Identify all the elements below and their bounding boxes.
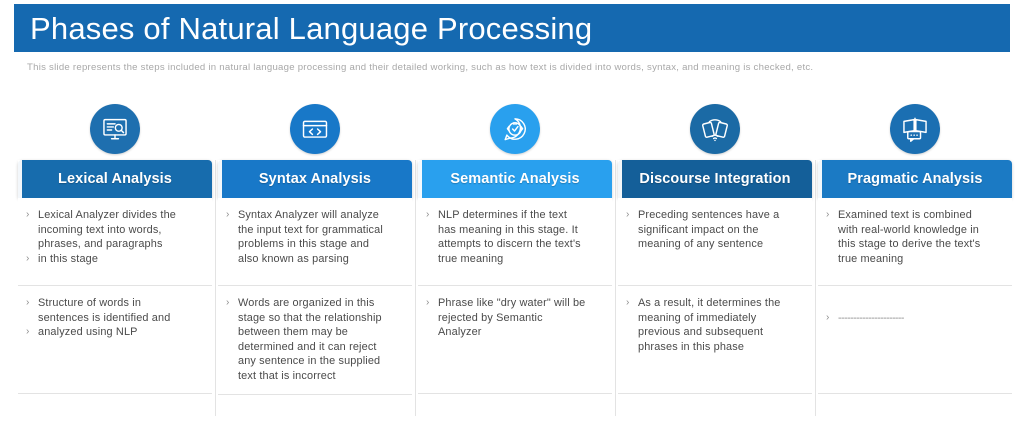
bullet-line: ›any sentence in the supplied [224, 354, 404, 369]
bullet-line: ›---------------------- [824, 311, 1004, 326]
phase-icon-wrap [218, 104, 412, 160]
bullet-line: ›also known as parsing [224, 252, 404, 267]
bullet-text: determined and it can reject [238, 340, 404, 355]
phase-header-label: Syntax Analysis [259, 171, 371, 187]
phase-column-semantic-analysis: Semantic Analysis›NLP determines if the … [418, 104, 612, 394]
chevron-right-icon: › [624, 340, 638, 355]
bullet-text: sentences is identified and [38, 311, 204, 326]
bullet-text: rejected by Semantic [438, 311, 604, 326]
column-separator [815, 160, 816, 416]
bullet-line: ›determined and it can reject [224, 340, 404, 355]
bullet-text: problems in this stage and [238, 237, 404, 252]
phase-header-pragmatic-analysis[interactable]: Pragmatic Analysis [818, 160, 1012, 198]
bullet-text: Examined text is combined [838, 208, 1004, 223]
chevron-right-icon: › [224, 340, 238, 355]
bullet-line: ›As a result, it determines the [624, 296, 804, 311]
phase-header-label: Semantic Analysis [450, 171, 579, 187]
phase-header-semantic-analysis[interactable]: Semantic Analysis [418, 160, 612, 198]
page-title: Phases of Natural Language Processing [14, 13, 592, 44]
chevron-right-icon: › [24, 311, 38, 326]
bullet-text: analyzed using NLP [38, 325, 204, 340]
phase-cell: ›Lexical Analyzer divides the›incoming t… [18, 198, 212, 286]
bullet-text: text that is incorrect [238, 369, 404, 384]
bullet-line: ›Syntax Analyzer will analyze [224, 208, 404, 223]
bullet-line: ›phrases in this phase [624, 340, 804, 355]
bullet-text: this stage to derive the text's [838, 237, 1004, 252]
slide-subtitle: This slide represents the steps included… [27, 62, 987, 73]
bullet-text: previous and subsequent [638, 325, 804, 340]
phase-cell: ›NLP determines if the text›has meaning … [418, 198, 612, 286]
bullet-text: true meaning [438, 252, 604, 267]
bullet-line: ›analyzed using NLP [24, 325, 204, 340]
phase-icon-wrap [18, 104, 212, 160]
bullet-line: ›meaning of any sentence [624, 237, 804, 252]
chevron-right-icon: › [424, 325, 438, 340]
bullet-text: attempts to discern the text's [438, 237, 604, 252]
chevron-right-icon: › [224, 223, 238, 238]
phase-header-lexical-analysis[interactable]: Lexical Analysis [18, 160, 212, 198]
bullet-text: meaning of any sentence [638, 237, 804, 252]
chevron-right-icon: › [824, 252, 838, 267]
phase-header-label: Lexical Analysis [58, 171, 172, 187]
chevron-right-icon: › [824, 296, 838, 311]
chevron-right-icon: › [424, 237, 438, 252]
phase-header-syntax-analysis[interactable]: Syntax Analysis [218, 160, 412, 198]
bullet-text: Analyzer [438, 325, 604, 340]
bullet-line: ›with real-world knowledge in [824, 223, 1004, 238]
bullet-text: significant impact on the [638, 223, 804, 238]
chevron-right-icon: › [24, 223, 38, 238]
chevron-right-icon: › [224, 252, 238, 267]
bullet-text: has meaning in this stage. It [438, 223, 604, 238]
chevron-right-icon: › [24, 208, 38, 223]
phase-column-pragmatic-analysis: Pragmatic Analysis›Examined text is comb… [818, 104, 1012, 394]
bullet-text: incoming text into words, [38, 223, 204, 238]
slide-title-bar: Phases of Natural Language Processing [14, 4, 1010, 52]
header-accent-stripe [818, 160, 822, 198]
chevron-right-icon: › [824, 311, 838, 326]
header-accent-stripe [218, 160, 222, 198]
phase-cell: ›Phrase like "dry water" will be›rejecte… [418, 286, 612, 394]
phase-header-label: Discourse Integration [639, 171, 790, 187]
phase-column-discourse-integration: Discourse Integration›Preceding sentence… [618, 104, 812, 394]
chevron-right-icon: › [624, 325, 638, 340]
chevron-right-icon: › [224, 369, 238, 384]
bullet-text: phrases in this phase [638, 340, 804, 355]
header-accent-stripe [618, 160, 622, 198]
bullet-text: phrases, and paragraphs [38, 237, 204, 252]
bullet-line: ›significant impact on the [624, 223, 804, 238]
bullet-text: stage so that the relationship [238, 311, 404, 326]
header-accent-stripe [18, 160, 22, 198]
chat-bubbles-icon [890, 104, 940, 154]
bullet-line: ›Analyzer [424, 325, 604, 340]
chevron-right-icon: › [424, 296, 438, 311]
bullet-text: also known as parsing [238, 252, 404, 267]
bullet-line: ›problems in this stage and [224, 237, 404, 252]
phase-column-syntax-analysis: Syntax Analysis›Syntax Analyzer will ana… [218, 104, 412, 395]
chevron-right-icon: › [424, 208, 438, 223]
bullet-line: ›the input text for grammatical [224, 223, 404, 238]
code-window-icon [290, 104, 340, 154]
phase-header-discourse-integration[interactable]: Discourse Integration [618, 160, 812, 198]
bullet-text: true meaning [838, 252, 1004, 267]
bullet-line: ›attempts to discern the text's [424, 237, 604, 252]
phase-icon-wrap [818, 104, 1012, 160]
bullet-line: ›text that is incorrect [224, 369, 404, 384]
bullet-line: ›between them may be [224, 325, 404, 340]
column-separator [215, 160, 216, 416]
column-separator [615, 160, 616, 416]
bullet-line: ›Lexical Analyzer divides the [24, 208, 204, 223]
bullet-line: ›previous and subsequent [624, 325, 804, 340]
bullet-text: Structure of words in [38, 296, 204, 311]
devices-signal-icon [690, 104, 740, 154]
bullet-line: ›Structure of words in [24, 296, 204, 311]
phase-cell: ›As a result, it determines the›meaning … [618, 286, 812, 394]
bullet-line: ›NLP determines if the text [424, 208, 604, 223]
phase-cell: ›Words are organized in this›stage so th… [218, 286, 412, 395]
chevron-right-icon: › [224, 354, 238, 369]
bullet-text: Preceding sentences have a [638, 208, 804, 223]
phase-cell: ›Examined text is combined›with real-wor… [818, 198, 1012, 286]
bullet-line: ›true meaning [824, 252, 1004, 267]
phase-icon-wrap [418, 104, 612, 160]
chevron-right-icon: › [624, 237, 638, 252]
chevron-right-icon: › [424, 252, 438, 267]
bullet-text: Phrase like "dry water" will be [438, 296, 604, 311]
chevron-right-icon: › [224, 325, 238, 340]
bullet-line: ›in this stage [24, 252, 204, 267]
bullet-line: ›meaning of immediately [624, 311, 804, 326]
monitor-search-icon [90, 104, 140, 154]
chevron-right-icon: › [24, 252, 38, 267]
bullet-text: with real-world knowledge in [838, 223, 1004, 238]
bullet-line: ›rejected by Semantic [424, 311, 604, 326]
bullet-line: ›Words are organized in this [224, 296, 404, 311]
chevron-right-icon: › [24, 296, 38, 311]
chevron-right-icon: › [24, 325, 38, 340]
bullet-text: any sentence in the supplied [238, 354, 404, 369]
chevron-right-icon: › [824, 223, 838, 238]
phase-header-label: Pragmatic Analysis [847, 171, 982, 187]
bullet-text: NLP determines if the text [438, 208, 604, 223]
bullet-text: As a result, it determines the [638, 296, 804, 311]
bullet-line: ›Phrase like "dry water" will be [424, 296, 604, 311]
bullet-line: ›true meaning [424, 252, 604, 267]
chevron-right-icon: › [224, 296, 238, 311]
column-separator [415, 160, 416, 416]
chevron-right-icon: › [24, 237, 38, 252]
header-accent-stripe [418, 160, 422, 198]
chevron-right-icon: › [224, 237, 238, 252]
bullet-line: ›has meaning in this stage. It [424, 223, 604, 238]
bullet-line: ›Examined text is combined [824, 208, 1004, 223]
chevron-right-icon: › [824, 208, 838, 223]
bullet-line: ›this stage to derive the text's [824, 237, 1004, 252]
chevron-right-icon: › [624, 296, 638, 311]
bullet-text: Syntax Analyzer will analyze [238, 208, 404, 223]
phase-icon-wrap [618, 104, 812, 160]
phase-cell: ›Preceding sentences have a›significant … [618, 198, 812, 286]
phase-column-lexical-analysis: Lexical Analysis›Lexical Analyzer divide… [18, 104, 212, 394]
bullet-text: Words are organized in this [238, 296, 404, 311]
bullet-text: in this stage [38, 252, 204, 267]
bullet-text: the input text for grammatical [238, 223, 404, 238]
bullet-text: meaning of immediately [638, 311, 804, 326]
chevron-right-icon: › [224, 208, 238, 223]
bullet-line: ›stage so that the relationship [224, 311, 404, 326]
bullet-text: between them may be [238, 325, 404, 340]
speech-bubble-check-icon [490, 104, 540, 154]
chevron-right-icon: › [824, 237, 838, 252]
bullet-line: ›sentences is identified and [24, 311, 204, 326]
bullet-text: Lexical Analyzer divides the [38, 208, 204, 223]
bullet-line: ›phrases, and paragraphs [24, 237, 204, 252]
phase-cell: ›Syntax Analyzer will analyze›the input … [218, 198, 412, 286]
chevron-right-icon: › [224, 311, 238, 326]
phase-cell: ››---------------------- [818, 286, 1012, 394]
chevron-right-icon: › [624, 223, 638, 238]
chevron-right-icon: › [424, 223, 438, 238]
chevron-right-icon: › [624, 311, 638, 326]
bullet-line: ›incoming text into words, [24, 223, 204, 238]
chevron-right-icon: › [424, 311, 438, 326]
phase-cell: ›Structure of words in›sentences is iden… [18, 286, 212, 394]
bullet-text: ---------------------- [838, 311, 1004, 326]
phases-board: Lexical Analysis›Lexical Analyzer divide… [18, 104, 1008, 416]
chevron-right-icon: › [624, 208, 638, 223]
bullet-line: › [824, 296, 1004, 311]
bullet-line: ›Preceding sentences have a [624, 208, 804, 223]
